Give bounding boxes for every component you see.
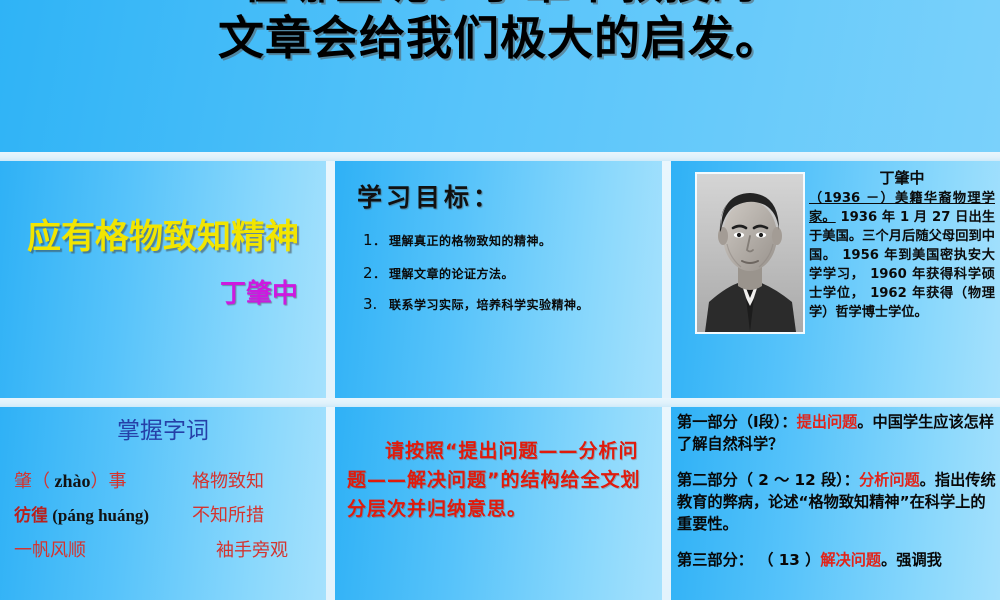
structure-part: 第一部分（I段）：提出问题。中国学生应该怎样了解自然科学？ [677,411,999,455]
structure-part-lead: 第一部分（I段）： [677,413,797,431]
horizontal-divider-middle [0,398,1000,407]
vocabulary-row: 一帆风顺 袖手旁观 [14,538,314,562]
objective-item: 1． 理解真正的格物致知的精神。 [363,229,653,250]
structure-part: 第二部分（ 2 ～ 12 段）：分析问题。指出传统教育的弊病，论述“格物致知精神… [677,469,999,535]
vocabulary-row: 彷徨 (páng huáng) 不知所措 [14,503,314,528]
structure-part-highlight: 提出问题 [797,413,858,431]
vocabulary-row: 肇（ zhào）事 格物致知 [14,469,314,493]
vocabulary-term-right: 袖手旁观 [192,538,314,562]
lesson-title-cell[interactable]: 应有格物致知精神 丁肇中 [0,161,326,398]
vocab-pinyin: (páng huáng) [52,506,149,525]
author-bio-body: 1936 年 1 月 27 日出生于美国。三个月后随父母回到中国。 1956 年… [809,210,995,320]
vertical-divider-r2-c1 [326,407,335,600]
structure-part-tail: 。强调我 [881,551,942,569]
objective-text: 联系学习实际，培养科学实验精神。 [389,296,589,313]
vertical-divider-r2-c2 [662,407,671,600]
author-bio-name: 丁肇中 [809,169,995,188]
objective-item: 2． 理解文章的论证方法。 [363,262,653,283]
horizontal-divider-top [0,152,1000,161]
structure-parts-list: 第一部分（I段）：提出问题。中国学生应该怎样了解自然科学？ 第二部分（ 2 ～ … [677,411,999,585]
lesson-author: 丁肇中 [8,279,298,309]
vocab-pinyin: zhào [55,471,91,491]
task-instruction-cell[interactable]: 请按照“提出问题——分析问题——解决问题”的结构给全文划分层次并归纳意思。 [335,407,662,600]
vocabulary-term-left: 一帆风顺 [14,538,192,562]
vocab-term-post: ）事 [91,471,127,491]
objective-number: 3. [363,295,389,313]
objective-text: 理解文章的论证方法。 [389,265,514,282]
learning-objectives-list: 1． 理解真正的格物致知的精神。 2． 理解文章的论证方法。 3. 联系学习实际… [363,229,653,325]
task-instruction-text: 请按照“提出问题——分析问题——解决问题”的结构给全文划分层次并归纳意思。 [347,437,651,524]
vocabulary-heading: 掌握字词 [0,417,326,445]
portrait-illustration [697,174,803,332]
vocabulary-term-left: 肇（ zhào）事 [14,469,192,493]
author-portrait-photo [695,172,805,334]
vocabulary-cell[interactable]: 掌握字词 肇（ zhào）事 格物致知 彷徨 (páng huáng) 不知所措… [0,407,326,600]
vocabulary-term-left: 彷徨 (páng huáng) [14,504,192,528]
objective-number: 1． [363,229,389,250]
vocab-term-pre: 彷徨 [14,506,52,525]
objective-text: 理解真正的格物致知的精神。 [389,232,552,249]
banner-line-2: 文章会给我们极大的启发。 [0,10,1000,66]
structure-part-lead: 第三部分： （ 13 ） [677,551,820,569]
structure-part-lead: 第二部分（ 2 ～ 12 段）： [677,471,859,489]
vocabulary-rows: 肇（ zhào）事 格物致知 彷徨 (páng huáng) 不知所措 一帆风顺… [14,469,314,572]
structure-part: 第三部分： （ 13 ）解决问题。强调我 [677,549,999,571]
vertical-divider-r1-c1 [326,161,335,398]
author-biography-text: 丁肇中（1936 －）美籍华裔物理学家。 1936 年 1 月 27 日出生于美… [809,169,995,322]
slide-banner: 在哪里呢？丁肇中教授的 文章会给我们极大的启发。 [0,0,1000,152]
objective-number: 2． [363,262,389,283]
objective-item: 3. 联系学习实际，培养科学实验精神。 [363,295,653,313]
author-biography-cell[interactable]: 丁肇中（1936 －）美籍华裔物理学家。 1936 年 1 月 27 日出生于美… [671,161,1000,398]
structure-part-highlight: 解决问题 [820,551,881,569]
lesson-title: 应有格物致知精神 [8,218,318,258]
structure-part-highlight: 分析问题 [859,471,920,489]
structure-parts-cell[interactable]: 第一部分（I段）：提出问题。中国学生应该怎样了解自然科学？ 第二部分（ 2 ～ … [671,407,1000,600]
learning-objectives-heading: 学习目标： [357,183,502,213]
banner-line-1: 在哪里呢？丁肇中教授的 [0,0,1000,10]
presentation-slide: 在哪里呢？丁肇中教授的 文章会给我们极大的启发。 应有格物致知精神 丁肇中 学习… [0,0,1000,600]
vocab-term-pre: 肇（ [14,471,55,491]
vocabulary-term-right: 不知所措 [192,503,314,527]
vocabulary-term-right: 格物致知 [192,469,314,493]
vertical-divider-r1-c2 [662,161,671,398]
learning-objectives-cell[interactable]: 学习目标： 1． 理解真正的格物致知的精神。 2． 理解文章的论证方法。 3. … [335,161,662,398]
